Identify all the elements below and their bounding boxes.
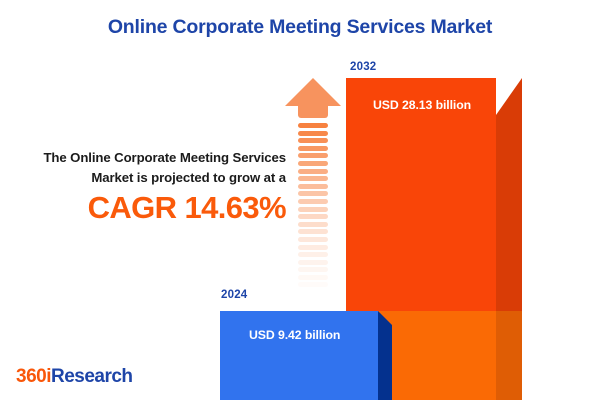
arrow-bar	[298, 138, 328, 143]
growth-arrow-icon	[285, 78, 341, 292]
arrow-bar	[298, 123, 328, 128]
page-title: Online Corporate Meeting Services Market	[0, 16, 600, 39]
cagr-value: CAGR 14.63%	[8, 191, 286, 226]
arrow-bar	[298, 176, 328, 181]
arrow-neck	[298, 105, 328, 118]
arrow-bar	[298, 191, 328, 196]
arrow-gradient-bars	[298, 123, 328, 292]
arrow-bar	[298, 229, 328, 234]
arrow-bar	[298, 184, 328, 189]
bar-year-label-2032: 2032	[350, 61, 376, 73]
arrow-bar	[298, 131, 328, 136]
logo-prefix: 360i	[16, 366, 51, 387]
arrow-bar	[298, 275, 328, 280]
arrow-bar	[298, 214, 328, 219]
arrow-bar	[298, 260, 328, 265]
arrow-bar	[298, 161, 328, 166]
bar-year-label-2024: 2024	[221, 289, 247, 301]
logo-suffix: Research	[51, 366, 133, 387]
brand-logo: 360iResearch	[16, 366, 133, 388]
arrow-bar	[298, 245, 328, 250]
arrow-bar	[298, 207, 328, 212]
arrow-bar	[298, 237, 328, 242]
arrow-head-icon	[285, 78, 341, 118]
bar-2024-side-face	[378, 311, 392, 400]
bar-2032-side-lower-segment	[496, 311, 522, 400]
growth-statement-text: The Online Corporate Meeting Services Ma…	[8, 148, 286, 187]
arrow-bar	[298, 267, 328, 272]
arrow-bar	[298, 146, 328, 151]
infographic-canvas: Online Corporate Meeting Services Market…	[0, 0, 600, 400]
statement-block: The Online Corporate Meeting Services Ma…	[8, 148, 286, 226]
bar-value-label-2024: USD 9.42 billion	[249, 328, 340, 342]
arrow-bar	[298, 222, 328, 227]
arrow-bar	[298, 169, 328, 174]
arrow-bar	[298, 282, 328, 287]
arrow-bar	[298, 199, 328, 204]
arrow-bar	[298, 153, 328, 158]
bar-value-label-2032: USD 28.13 billion	[373, 98, 471, 112]
bar-2024-front-face	[220, 311, 378, 400]
arrow-bar	[298, 252, 328, 257]
arrow-triangle	[285, 78, 341, 106]
